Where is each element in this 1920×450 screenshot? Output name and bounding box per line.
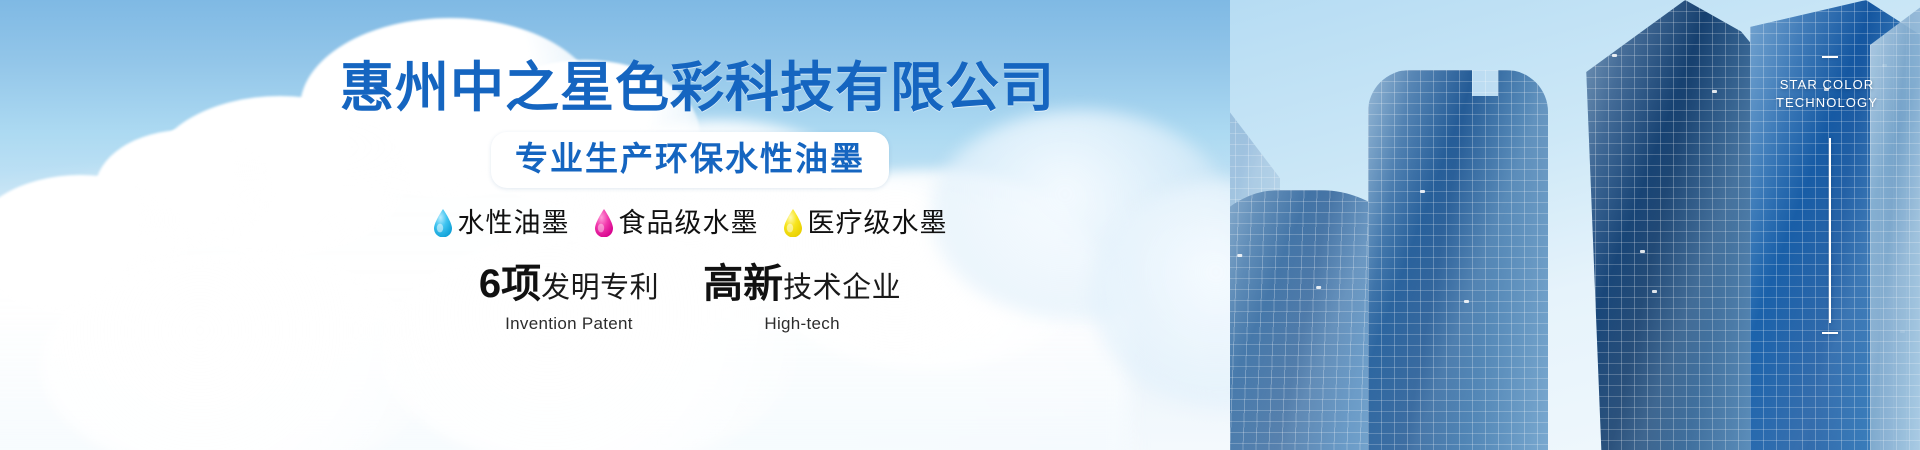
feature-label: 医疗级水墨 [808, 208, 948, 238]
water-drop-icon [433, 209, 453, 237]
overlay-line-2: TECHNOLOGY [1752, 94, 1902, 112]
credential-badges: 6项发明专利 Invention Patent 高新技术企业 High-tech [340, 264, 1040, 334]
feature-item-food-grade: 食品级水墨 [594, 208, 759, 238]
overlay-line-1: STAR COLOR [1752, 76, 1902, 94]
feature-list: 水性油墨 食品级水墨 [340, 208, 1040, 238]
badge-rest-text: 技术企业 [783, 272, 901, 304]
feature-label: 食品级水墨 [619, 208, 759, 238]
subtitle-pill: 专业生产环保水性油墨 [491, 132, 889, 188]
feature-label: 水性油墨 [458, 208, 570, 238]
building-curtain-tower [1368, 70, 1548, 450]
badge-rest-text: 发明专利 [541, 272, 659, 304]
feature-item-medical-grade: 医疗级水墨 [783, 208, 948, 238]
overlay-rule-top [1822, 56, 1838, 58]
subtitle-pill-wrap: 专业生产环保水性油墨 [340, 132, 1040, 188]
badge-strong-text: 6项 [479, 262, 541, 306]
overlay-vertical-line [1829, 138, 1831, 323]
badge-en-text: Invention Patent [479, 314, 659, 334]
badge-high-tech: 高新技术企业 High-tech [703, 264, 901, 334]
badge-cn-line: 高新技术企业 [703, 264, 901, 313]
feature-item-water-ink: 水性油墨 [433, 208, 570, 238]
overlay-rule-bottom [1822, 332, 1838, 334]
badge-strong-text: 高新 [703, 262, 783, 306]
water-drop-icon [783, 209, 803, 237]
banner-content: 惠州中之星色彩科技有限公司 专业生产环保水性油墨 水性油墨 [340, 0, 1040, 450]
badge-cn-line: 6项发明专利 [479, 264, 659, 313]
water-drop-icon [594, 209, 614, 237]
building-edge-sliver [1870, 0, 1920, 450]
watermark-text: Star Color [118, 300, 340, 351]
badge-invention-patent: 6项发明专利 Invention Patent [479, 264, 659, 334]
skyscraper-photo: STAR COLOR TECHNOLOGY [1230, 0, 1920, 450]
badge-en-text: High-tech [703, 314, 901, 334]
promo-banner: Star Color [0, 0, 1920, 450]
photo-overlay-label: STAR COLOR TECHNOLOGY [1752, 76, 1902, 112]
company-title: 惠州中之星色彩科技有限公司 [340, 58, 1040, 118]
